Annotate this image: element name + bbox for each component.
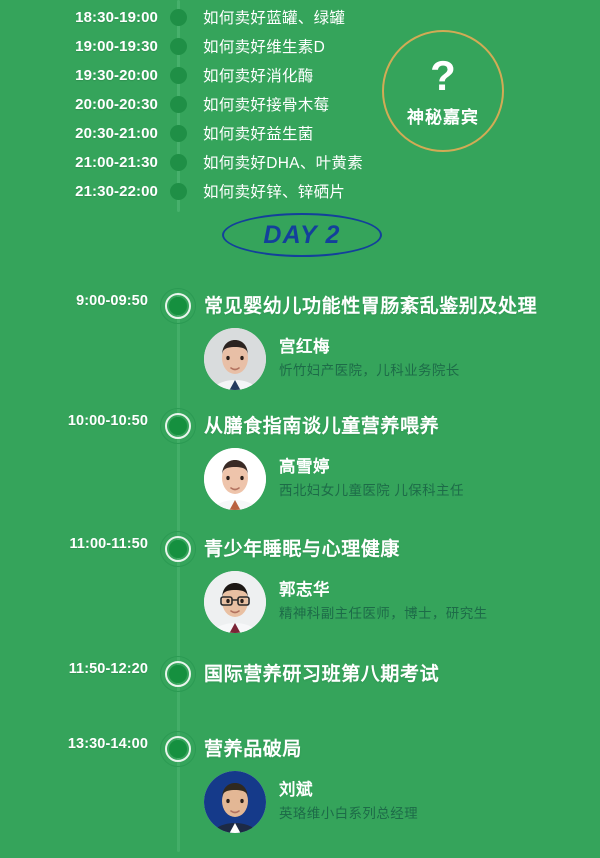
speaker-name: 高雪婷 <box>279 457 464 478</box>
speaker-name: 刘斌 <box>279 780 418 801</box>
speaker-block: 郭志华 精神科副主任医师，博士，研究生 <box>204 571 488 633</box>
speaker-name: 宫红梅 <box>279 337 460 358</box>
day1-row-time: 20:00-20:30 <box>0 96 158 113</box>
session-title: 营养品破局 <box>204 734 302 761</box>
avatar <box>204 771 266 833</box>
day1-row: 19:00-19:30 如何卖好维生素D <box>0 31 600 61</box>
speaker-name: 郭志华 <box>279 580 488 601</box>
day2-badge-label: DAY 2 <box>263 221 340 250</box>
day1-row-title: 如何卖好益生菌 <box>203 122 314 144</box>
speaker-role: 精神科副主任医师，博士，研究生 <box>279 604 488 624</box>
day1-row: 21:30-22:00 如何卖好锌、锌硒片 <box>0 176 600 206</box>
day1-row-time: 21:00-21:30 <box>0 154 158 171</box>
day1-schedule-section: 18:30-19:00 如何卖好蓝罐、绿罐19:00-19:30 如何卖好维生素… <box>0 0 600 212</box>
day1-row-time: 20:30-21:00 <box>0 125 158 142</box>
day1-row-time: 18:30-19:00 <box>0 9 158 26</box>
day1-row: 21:00-21:30 如何卖好DHA、叶黄素 <box>0 147 600 177</box>
agenda-poster: 18:30-19:00 如何卖好蓝罐、绿罐19:00-19:30 如何卖好维生素… <box>0 0 600 858</box>
day1-row: 19:30-20:00 如何卖好消化酶 <box>0 60 600 90</box>
day1-row-title: 如何卖好蓝罐、绿罐 <box>203 6 345 28</box>
mystery-guest-label: 神秘嘉宾 <box>407 103 479 128</box>
timeline-target-icon <box>160 731 196 767</box>
session-time: 11:00-11:50 <box>0 536 148 552</box>
session-time: 9:00-09:50 <box>0 293 148 309</box>
day1-row: 20:30-21:00 如何卖好益生菌 <box>0 118 600 148</box>
day1-row-title: 如何卖好接骨木莓 <box>203 93 329 115</box>
timeline-target-icon <box>160 408 196 444</box>
day1-row-time: 21:30-22:00 <box>0 183 158 200</box>
session-time: 10:00-10:50 <box>0 413 148 429</box>
timeline-dot-icon <box>170 9 187 26</box>
day1-row-time: 19:30-20:00 <box>0 67 158 84</box>
day1-row-time: 19:00-19:30 <box>0 38 158 55</box>
timeline-target-icon <box>160 656 196 692</box>
session-title: 国际营养研习班第八期考试 <box>204 659 439 686</box>
day1-row-title: 如何卖好维生素D <box>203 35 325 57</box>
day1-row-title: 如何卖好DHA、叶黄素 <box>203 151 363 173</box>
timeline-dot-icon <box>170 96 187 113</box>
timeline-dot-icon <box>170 38 187 55</box>
timeline-dot-icon <box>170 183 187 200</box>
speaker-block: 高雪婷 西北妇女儿童医院 儿保科主任 <box>204 448 464 510</box>
session-time: 13:30-14:00 <box>0 736 148 752</box>
timeline-dot-icon <box>170 154 187 171</box>
avatar <box>204 571 266 633</box>
day1-row: 18:30-19:00 如何卖好蓝罐、绿罐 <box>0 2 600 32</box>
day1-row-title: 如何卖好锌、锌硒片 <box>203 180 345 202</box>
question-mark-icon: ? <box>430 55 456 97</box>
speaker-block: 刘斌 英珞维小白系列总经理 <box>204 771 418 833</box>
avatar <box>204 328 266 390</box>
session-title: 常见婴幼儿功能性胃肠紊乱鉴别及处理 <box>204 291 537 318</box>
timeline-target-icon <box>160 531 196 567</box>
avatar <box>204 448 266 510</box>
session-title: 从膳食指南谈儿童营养喂养 <box>204 411 439 438</box>
speaker-role: 忻竹妇产医院，儿科业务院长 <box>279 361 460 381</box>
timeline-dot-icon <box>170 125 187 142</box>
day1-row: 20:00-20:30 如何卖好接骨木莓 <box>0 89 600 119</box>
speaker-role: 英珞维小白系列总经理 <box>279 804 418 824</box>
speaker-block: 宫红梅 忻竹妇产医院，儿科业务院长 <box>204 328 460 390</box>
day1-row-title: 如何卖好消化酶 <box>203 64 314 86</box>
timeline-target-icon <box>160 288 196 324</box>
timeline-dot-icon <box>170 67 187 84</box>
day2-schedule-section: 9:00-09:50 常见婴幼儿功能性胃肠紊乱鉴别及处理 宫红梅 忻竹妇产医院，… <box>0 280 600 858</box>
session-time: 11:50-12:20 <box>0 661 148 677</box>
session-title: 青少年睡眠与心理健康 <box>204 534 400 561</box>
mystery-guest-badge: ? 神秘嘉宾 <box>382 30 504 152</box>
day2-badge: DAY 2 <box>222 213 382 257</box>
speaker-role: 西北妇女儿童医院 儿保科主任 <box>279 481 464 501</box>
day2-timeline-line <box>177 292 180 852</box>
